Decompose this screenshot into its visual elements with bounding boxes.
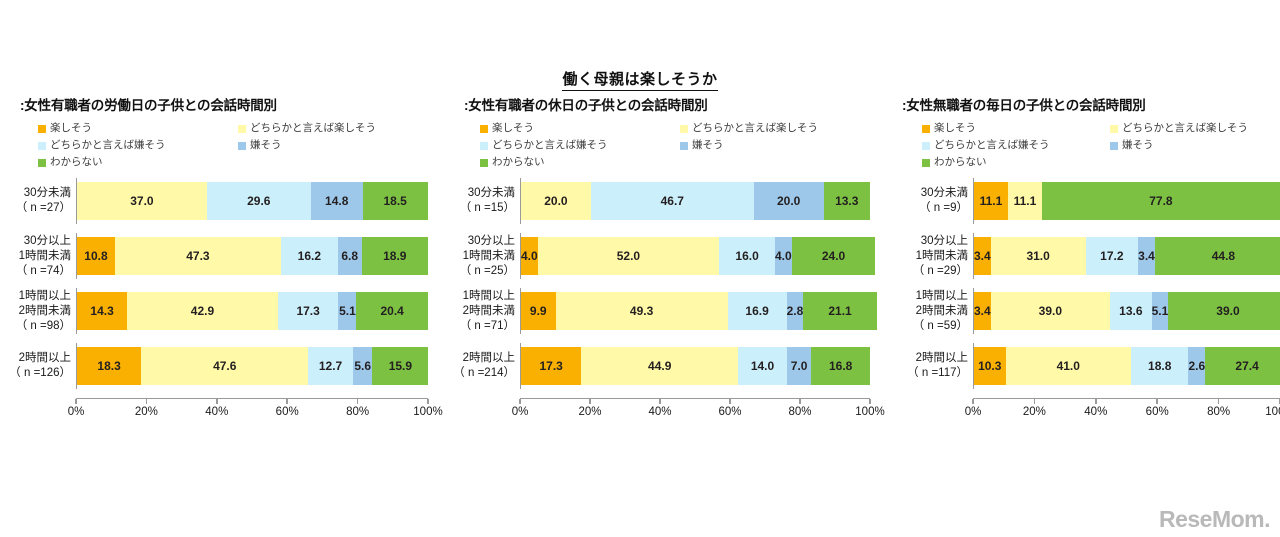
legend-label: 嫌そう <box>692 138 724 153</box>
legend-swatch-icon <box>922 159 930 167</box>
chart-1-rows: 30分未満（ n =27）37.029.614.818.530分以上1時間未満（… <box>8 178 428 389</box>
chart-2-row: 30分以上1時間未満（ n =25）4.052.016.04.024.0 <box>450 233 870 279</box>
bar-segment: 49.3 <box>556 292 728 330</box>
legend-item-1: 楽しそう <box>922 121 1110 136</box>
stacked-bar: 37.029.614.818.5 <box>77 182 428 220</box>
resemom-watermark: ReseMom. <box>1159 506 1270 533</box>
row-label-line: 2時間以上 <box>19 351 71 366</box>
row-label-line: （ n =9） <box>919 201 968 216</box>
chart-3-rows: 30分未満（ n =9）11.111.177.830分以上1時間未満（ n =2… <box>900 178 1280 389</box>
chart-2-rows: 30分未満（ n =15）20.046.720.013.330分以上1時間未満（… <box>450 178 870 389</box>
row-label-line: 2時間以上 <box>916 351 968 366</box>
chart-2-row: 2時間以上（ n =214）17.344.914.07.016.8 <box>450 343 870 389</box>
legend-swatch-icon <box>38 125 46 133</box>
row-label-line: （ n =25） <box>460 264 515 279</box>
row-label-line: （ n =74） <box>16 264 71 279</box>
bar-segment: 3.4 <box>974 237 991 275</box>
bar-track: 11.111.177.8 <box>973 178 1280 224</box>
stacked-bar: 10.847.316.26.818.9 <box>77 237 428 275</box>
row-category-label: 2時間以上（ n =214） <box>450 343 520 389</box>
bar-segment: 18.3 <box>77 347 141 385</box>
stacked-bar: 17.344.914.07.016.8 <box>521 347 870 385</box>
row-category-label: 2時間以上（ n =117） <box>900 343 973 389</box>
row-category-label: 1時間以上2時間未満（ n =98） <box>8 288 76 334</box>
bar-segment: 9.9 <box>521 292 556 330</box>
row-label-line: （ n =27） <box>16 201 71 216</box>
bar-segment: 4.0 <box>521 237 538 275</box>
row-label-line: （ n =98） <box>16 319 71 334</box>
bar-segment: 77.8 <box>1042 182 1280 220</box>
axis-tick <box>146 399 148 404</box>
chart-panel-3: :女性無職者の毎日の子供との会話時間別 楽しそうどちらかと言えば楽しそうどちらか… <box>900 98 1280 528</box>
row-category-label: 30分以上1時間未満（ n =25） <box>450 233 520 279</box>
bar-track: 18.347.612.75.615.9 <box>76 343 428 389</box>
chart-3-axis: 0%20%40%60%80%100% <box>900 398 1280 418</box>
bar-segment: 10.3 <box>974 347 1006 385</box>
row-label-line: （ n =214） <box>453 366 515 381</box>
chart-3-plot: 30分未満（ n =9）11.111.177.830分以上1時間未満（ n =2… <box>900 178 1280 418</box>
bar-segment: 16.9 <box>728 292 787 330</box>
axis-tick-label: 40% <box>205 406 228 418</box>
axis-tick-label: 20% <box>1023 406 1046 418</box>
legend-swatch-icon <box>922 142 930 150</box>
axis-tick <box>799 399 801 404</box>
axis-tick-label: 20% <box>135 406 158 418</box>
bar-segment: 39.0 <box>1168 292 1280 330</box>
axis-tick <box>869 399 871 404</box>
legend-label: 嫌そう <box>250 138 282 153</box>
bar-segment: 3.4 <box>1138 237 1155 275</box>
axis-tick <box>972 399 974 404</box>
row-label-line: 1時間以上 <box>463 289 515 304</box>
axis-tick-label: 40% <box>648 406 671 418</box>
row-label-line: 2時間未満 <box>463 304 515 319</box>
bar-segment: 20.0 <box>521 182 591 220</box>
stacked-bar: 10.341.018.82.627.4 <box>974 347 1280 385</box>
legend-label: どちらかと言えば嫌そう <box>934 138 1050 153</box>
row-label-line: 2時間未満 <box>916 304 968 319</box>
axis-tick <box>1218 399 1220 404</box>
bar-segment: 20.4 <box>356 292 428 330</box>
axis-tick-label: 100% <box>413 406 442 418</box>
legend-item-5: わからない <box>922 155 1110 170</box>
chart-1-axis-line: 0%20%40%60%80%100% <box>76 398 428 418</box>
legend-item-5: わからない <box>38 155 238 170</box>
chart-3-row: 30分以上1時間未満（ n =29）3.431.017.23.444.8 <box>900 233 1280 279</box>
bar-segment: 14.0 <box>738 347 787 385</box>
chart-1-plot: 30分未満（ n =27）37.029.614.818.530分以上1時間未満（… <box>8 178 428 418</box>
chart-2-row: 30分未満（ n =15）20.046.720.013.3 <box>450 178 870 224</box>
legend-swatch-icon <box>480 159 488 167</box>
bar-segment: 5.1 <box>338 292 356 330</box>
axis-tick-label: 80% <box>788 406 811 418</box>
legend-label: どちらかと言えば嫌そう <box>50 138 166 153</box>
chart-3-row: 1時間以上2時間未満（ n =59）3.439.013.65.139.0 <box>900 288 1280 334</box>
stacked-bar: 18.347.612.75.615.9 <box>77 347 428 385</box>
bar-track: 9.949.316.92.821.1 <box>520 288 870 334</box>
axis-tick-label: 60% <box>1146 406 1169 418</box>
bar-segment: 17.3 <box>521 347 581 385</box>
bar-segment: 16.8 <box>811 347 870 385</box>
chart-2-axis-line: 0%20%40%60%80%100% <box>520 398 870 418</box>
chart-3-legend: 楽しそうどちらかと言えば楽しそうどちらかと言えば嫌そう嫌そうわからない <box>922 121 1280 170</box>
legend-swatch-icon <box>238 125 246 133</box>
row-label-line: 30分以上 <box>24 234 71 249</box>
legend-label: どちらかと言えば楽しそう <box>1122 121 1248 136</box>
bar-segment: 13.3 <box>824 182 870 220</box>
legend-item-3: どちらかと言えば嫌そう <box>38 138 238 153</box>
legend-label: どちらかと言えば楽しそう <box>250 121 376 136</box>
bar-segment: 2.6 <box>1188 347 1205 385</box>
chart-1-row: 1時間以上2時間未満（ n =98）14.342.917.35.120.4 <box>8 288 428 334</box>
legend-swatch-icon <box>1110 142 1118 150</box>
bar-segment: 46.7 <box>591 182 754 220</box>
legend-item-4: 嫌そう <box>680 138 880 153</box>
axis-tick-label: 80% <box>1207 406 1230 418</box>
legend-item-3: どちらかと言えば嫌そう <box>480 138 680 153</box>
bar-segment: 47.6 <box>141 347 308 385</box>
axis-tick <box>216 399 218 404</box>
row-label-line: （ n =71） <box>460 319 515 334</box>
axis-tick-label: 0% <box>512 406 529 418</box>
axis-tick-label: 60% <box>276 406 299 418</box>
legend-item-2: どちらかと言えば楽しそう <box>680 121 880 136</box>
bar-segment: 6.8 <box>338 237 362 275</box>
bar-segment: 47.3 <box>115 237 281 275</box>
bar-segment: 39.0 <box>991 292 1110 330</box>
chart-3-row: 2時間以上（ n =117）10.341.018.82.627.4 <box>900 343 1280 389</box>
bar-segment: 18.5 <box>363 182 428 220</box>
axis-tick <box>427 399 429 404</box>
chart-2-title: :女性有職者の休日の子供との会話時間別 <box>464 98 870 114</box>
chart-2-axis: 0%20%40%60%80%100% <box>450 398 870 418</box>
axis-tick <box>75 399 77 404</box>
legend-item-1: 楽しそう <box>480 121 680 136</box>
row-label-line: （ n =15） <box>460 201 515 216</box>
row-label-line: 1時間未満 <box>19 249 71 264</box>
bar-segment: 16.0 <box>719 237 775 275</box>
bar-track: 17.344.914.07.016.8 <box>520 343 870 389</box>
bar-segment: 11.1 <box>1008 182 1042 220</box>
axis-tick <box>1156 399 1158 404</box>
axis-tick-label: 20% <box>578 406 601 418</box>
bar-track: 14.342.917.35.120.4 <box>76 288 428 334</box>
row-label-line: 1時間以上 <box>19 289 71 304</box>
bar-segment: 15.9 <box>372 347 428 385</box>
legend-label: わからない <box>50 155 103 170</box>
legend-item-3: どちらかと言えば嫌そう <box>922 138 1110 153</box>
row-label-line: （ n =126） <box>9 366 71 381</box>
stacked-bar: 3.439.013.65.139.0 <box>974 292 1280 330</box>
legend-swatch-icon <box>1110 125 1118 133</box>
axis-tick-label: 0% <box>965 406 982 418</box>
row-label-line: 30分未満 <box>24 186 71 201</box>
chart-1-row: 2時間以上（ n =126）18.347.612.75.615.9 <box>8 343 428 389</box>
bar-segment: 27.4 <box>1205 347 1280 385</box>
row-category-label: 1時間以上2時間未満（ n =59） <box>900 288 973 334</box>
legend-item-5: わからない <box>480 155 680 170</box>
legend-label: どちらかと言えば嫌そう <box>492 138 608 153</box>
row-category-label: 1時間以上2時間未満（ n =71） <box>450 288 520 334</box>
bar-track: 20.046.720.013.3 <box>520 178 870 224</box>
axis-tick <box>286 399 288 404</box>
chart-1-axis: 0%20%40%60%80%100% <box>8 398 428 418</box>
bar-segment: 7.0 <box>787 347 811 385</box>
legend-item-4: 嫌そう <box>238 138 438 153</box>
bar-segment: 29.6 <box>207 182 311 220</box>
row-category-label: 30分以上1時間未満（ n =29） <box>900 233 973 279</box>
chart-2-legend: 楽しそうどちらかと言えば楽しそうどちらかと言えば嫌そう嫌そうわからない <box>480 121 870 170</box>
chart-3-title: :女性無職者の毎日の子供との会話時間別 <box>902 98 1280 114</box>
chart-3-row: 30分未満（ n =9）11.111.177.8 <box>900 178 1280 224</box>
row-category-label: 30分未満（ n =9） <box>900 178 973 224</box>
row-label-line: 1時間未満 <box>916 249 968 264</box>
axis-tick-label: 0% <box>68 406 85 418</box>
stacked-bar: 3.431.017.23.444.8 <box>974 237 1280 275</box>
row-label-line: 30分以上 <box>921 234 968 249</box>
row-label-line: 30分未満 <box>921 186 968 201</box>
stacked-bar: 20.046.720.013.3 <box>521 182 870 220</box>
axis-tick <box>589 399 591 404</box>
row-label-line: （ n =59） <box>913 319 968 334</box>
axis-tick-label: 60% <box>718 406 741 418</box>
bar-segment: 44.8 <box>1155 237 1280 275</box>
legend-label: 楽しそう <box>492 121 534 136</box>
row-label-line: （ n =29） <box>913 264 968 279</box>
chart-2-plot: 30分未満（ n =15）20.046.720.013.330分以上1時間未満（… <box>450 178 870 418</box>
bar-segment: 18.9 <box>362 237 428 275</box>
bar-segment: 16.2 <box>281 237 338 275</box>
chart-2-row: 1時間以上2時間未満（ n =71）9.949.316.92.821.1 <box>450 288 870 334</box>
row-label-line: 2時間未満 <box>19 304 71 319</box>
legend-item-2: どちらかと言えば楽しそう <box>238 121 438 136</box>
stacked-bar: 4.052.016.04.024.0 <box>521 237 870 275</box>
bar-segment: 3.4 <box>974 292 991 330</box>
bar-segment: 17.2 <box>1086 237 1139 275</box>
axis-tick <box>357 399 359 404</box>
row-label-line: 1時間以上 <box>916 289 968 304</box>
chart-1-title: :女性有職者の労働日の子供との会話時間別 <box>20 98 428 114</box>
legend-swatch-icon <box>680 142 688 150</box>
bar-track: 4.052.016.04.024.0 <box>520 233 870 279</box>
bar-track: 3.431.017.23.444.8 <box>973 233 1280 279</box>
row-label-line: 30分未満 <box>468 186 515 201</box>
page-title: 働く母親は楽しそうか <box>0 68 1280 89</box>
bar-segment: 14.3 <box>77 292 127 330</box>
bar-segment: 11.1 <box>974 182 1008 220</box>
chart-panel-2: :女性有職者の休日の子供との会話時間別 楽しそうどちらかと言えば楽しそうどちらか… <box>450 98 870 528</box>
axis-tick <box>659 399 661 404</box>
legend-swatch-icon <box>38 159 46 167</box>
bar-segment: 18.8 <box>1131 347 1189 385</box>
legend-label: わからない <box>492 155 545 170</box>
bar-segment: 37.0 <box>77 182 207 220</box>
legend-item-4: 嫌そう <box>1110 138 1280 153</box>
bar-segment: 2.8 <box>787 292 804 330</box>
bar-track: 3.439.013.65.139.0 <box>973 288 1280 334</box>
legend-label: どちらかと言えば楽しそう <box>692 121 818 136</box>
axis-tick-label: 100% <box>855 406 884 418</box>
bar-track: 10.341.018.82.627.4 <box>973 343 1280 389</box>
legend-swatch-icon <box>680 125 688 133</box>
axis-tick <box>519 399 521 404</box>
legend-swatch-icon <box>38 142 46 150</box>
axis-tick-label: 40% <box>1084 406 1107 418</box>
bar-segment: 10.8 <box>77 237 115 275</box>
axis-tick <box>729 399 731 404</box>
bar-segment: 14.8 <box>311 182 363 220</box>
legend-label: 楽しそう <box>50 121 92 136</box>
stacked-bar: 14.342.917.35.120.4 <box>77 292 428 330</box>
axis-tick <box>1034 399 1036 404</box>
legend-label: わからない <box>934 155 987 170</box>
row-label-line: 2時間以上 <box>463 351 515 366</box>
bar-segment: 13.6 <box>1110 292 1152 330</box>
bar-track: 10.847.316.26.818.9 <box>76 233 428 279</box>
row-category-label: 2時間以上（ n =126） <box>8 343 76 389</box>
chart-3-axis-line: 0%20%40%60%80%100% <box>973 398 1280 418</box>
bar-segment: 21.1 <box>803 292 877 330</box>
axis-tick-label: 100% <box>1265 406 1280 418</box>
bar-segment: 12.7 <box>308 347 353 385</box>
row-label-line: 1時間未満 <box>463 249 515 264</box>
row-category-label: 30分未満（ n =27） <box>8 178 76 224</box>
bar-segment: 41.0 <box>1006 347 1131 385</box>
chart-1-row: 30分未満（ n =27）37.029.614.818.5 <box>8 178 428 224</box>
row-category-label: 30分未満（ n =15） <box>450 178 520 224</box>
legend-item-2: どちらかと言えば楽しそう <box>1110 121 1280 136</box>
bar-segment: 44.9 <box>581 347 738 385</box>
bar-segment: 42.9 <box>127 292 278 330</box>
bar-segment: 20.0 <box>754 182 824 220</box>
bar-segment: 4.0 <box>775 237 792 275</box>
chart-1-legend: 楽しそうどちらかと言えば楽しそうどちらかと言えば嫌そう嫌そうわからない <box>38 121 428 170</box>
stacked-bar: 11.111.177.8 <box>974 182 1280 220</box>
bar-segment: 31.0 <box>991 237 1086 275</box>
bar-segment: 5.6 <box>353 347 373 385</box>
chart-page: 働く母親は楽しそうか :女性有職者の労働日の子供との会話時間別 楽しそうどちらか… <box>0 0 1280 537</box>
legend-swatch-icon <box>480 125 488 133</box>
axis-tick <box>1095 399 1097 404</box>
chart-1-row: 30分以上1時間未満（ n =74）10.847.316.26.818.9 <box>8 233 428 279</box>
bar-segment: 52.0 <box>538 237 719 275</box>
legend-label: 楽しそう <box>934 121 976 136</box>
row-label-line: （ n =117） <box>907 366 968 381</box>
bar-segment: 5.1 <box>1152 292 1169 330</box>
axis-tick-label: 80% <box>346 406 369 418</box>
stacked-bar: 9.949.316.92.821.1 <box>521 292 870 330</box>
legend-item-1: 楽しそう <box>38 121 238 136</box>
row-category-label: 30分以上1時間未満（ n =74） <box>8 233 76 279</box>
bar-segment: 17.3 <box>278 292 339 330</box>
chart-panel-1: :女性有職者の労働日の子供との会話時間別 楽しそうどちらかと言えば楽しそうどちら… <box>8 98 428 528</box>
row-label-line: 30分以上 <box>468 234 515 249</box>
bar-segment: 24.0 <box>792 237 876 275</box>
legend-swatch-icon <box>238 142 246 150</box>
legend-label: 嫌そう <box>1122 138 1154 153</box>
legend-swatch-icon <box>922 125 930 133</box>
legend-swatch-icon <box>480 142 488 150</box>
bar-track: 37.029.614.818.5 <box>76 178 428 224</box>
